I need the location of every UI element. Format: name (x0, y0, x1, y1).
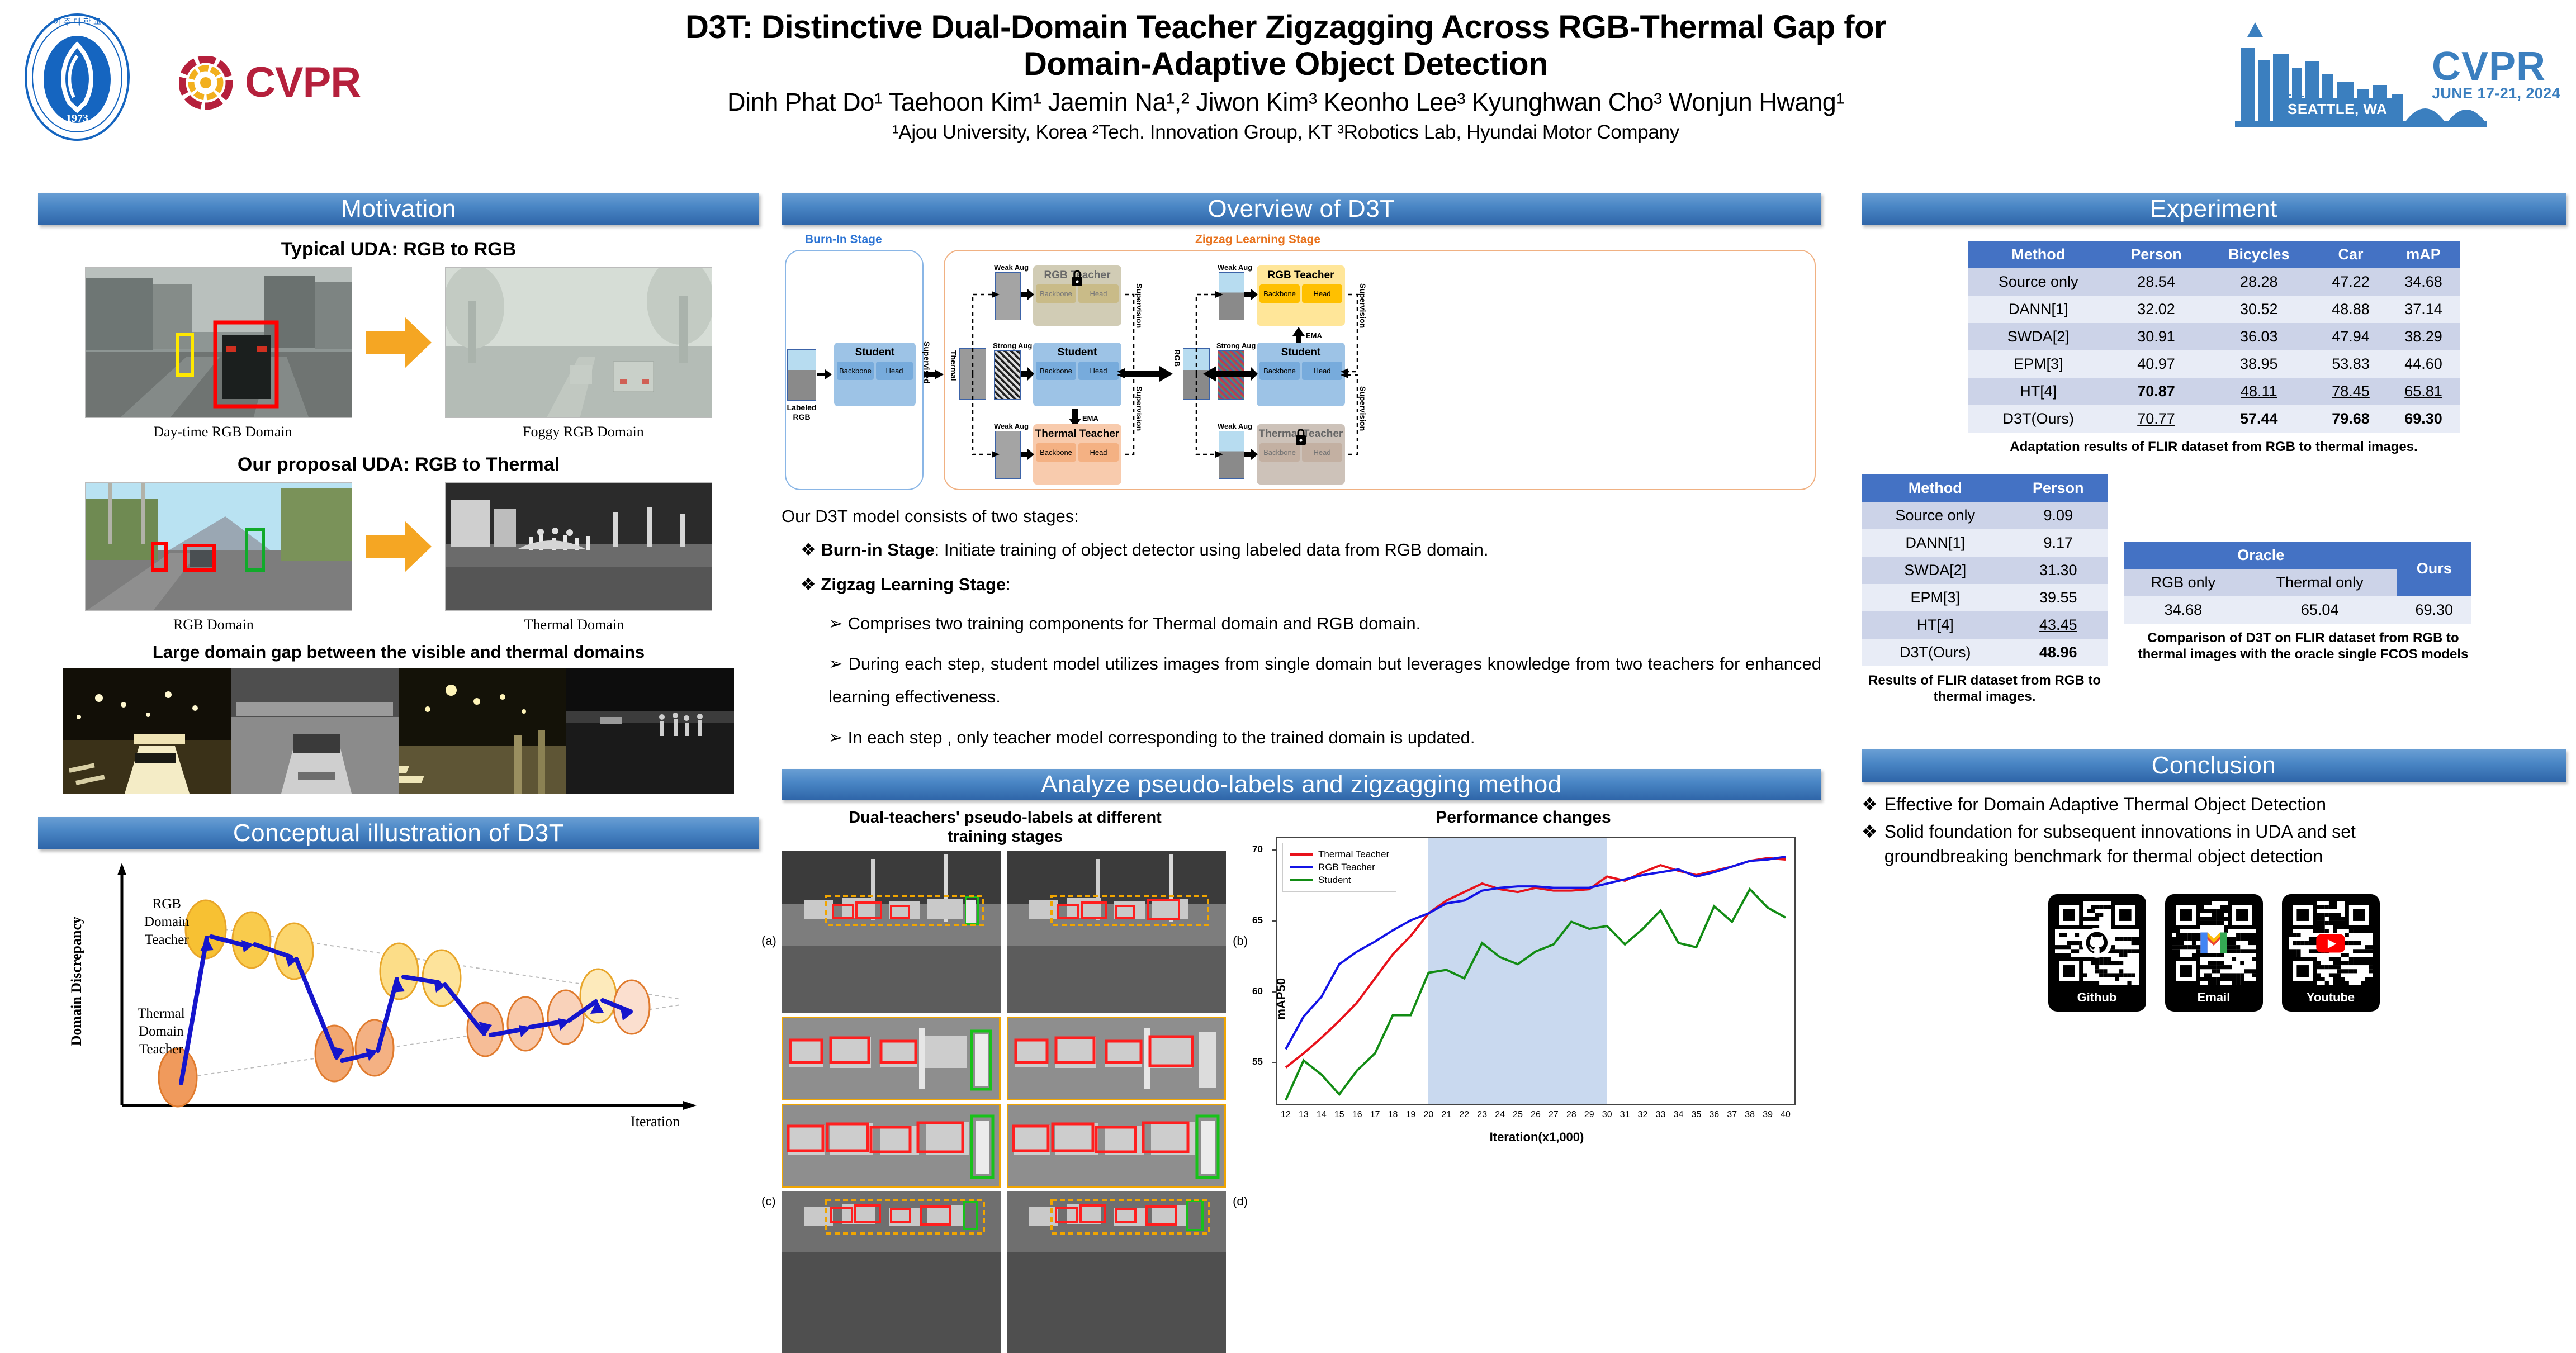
table-cell: 53.83 (2314, 350, 2387, 378)
labeled-rgb-label: Labeled RGB (783, 403, 821, 422)
thermal-vertical-label: Thermal (949, 350, 958, 381)
cvpr-mark-icon (179, 56, 233, 110)
table-cell: 34.68 (2124, 596, 2242, 624)
arrow-icon (817, 369, 832, 379)
conclusion-item-1: ❖ Effective for Domain Adaptive Thermal … (1862, 792, 2566, 816)
table-oracle-comparison: OracleOursRGB onlyThermal only34.6865.04… (2124, 542, 2471, 624)
proposal-uda-captions: RGB Domain Thermal Domain (38, 616, 759, 633)
legend-label: Thermal Teacher (1318, 849, 1389, 860)
chart-x-tick: 21 (1441, 1110, 1451, 1120)
table-cell: D3T(Ours) (1968, 405, 2109, 433)
youtube-qr-code[interactable] (2289, 901, 2373, 985)
table-cell: DANN[1] (1968, 296, 2109, 323)
weak-aug-label-2: Weak Aug (994, 422, 1029, 430)
pseudo-label-grid: (a) (b) (c) (d) (782, 851, 1229, 1353)
table-row: HT[4]43.45 (1862, 611, 2108, 639)
overview-sub-bullet-3: ➢ In each step , only teacher model corr… (828, 721, 1821, 754)
section-header-conclusion: Conclusion (1862, 749, 2566, 782)
cvpr-seattle-title: CVPR (2432, 48, 2560, 85)
chart-y-tick: 65 (1252, 915, 1263, 926)
qr-label: Github (2055, 985, 2139, 1012)
chart-x-axis-label: Iteration(x1,000) (1277, 1130, 1797, 1145)
pseudo-zoom-a (782, 1017, 1001, 1100)
github-icon (2082, 928, 2111, 957)
arrow-bullet-icon-1: ➢ (828, 614, 843, 633)
table-cell: EPM[3] (1862, 584, 2009, 611)
table-cell: 78.45 (2314, 378, 2387, 405)
strong-aug-label-1: Strong Aug (993, 341, 1032, 350)
legend-label: RGB Teacher (1318, 862, 1375, 873)
table-person-results: MethodPersonSource only9.09DANN[1]9.17SW… (1862, 474, 2108, 666)
thermal-domain-photo (445, 482, 712, 611)
table-row: DANN[1]9.17 (1862, 529, 2108, 557)
chart-y-tick: 70 (1252, 844, 1263, 855)
table-cell: 47.22 (2314, 268, 2387, 296)
strong-aug-rgb-thumb (1218, 350, 1244, 400)
email-qr-code[interactable] (2172, 901, 2256, 985)
table-cell: 79.68 (2314, 405, 2387, 433)
chart-x-tick: 36 (1709, 1110, 1719, 1120)
burn-in-bold: Burn-in Stage (821, 540, 934, 559)
overview-sub-bullet-1: ➢ Comprises two training components for … (828, 607, 1821, 640)
night-rgb-photo-2 (399, 668, 566, 794)
arrow-bullet-icon-2: ➢ (828, 654, 843, 673)
svg-text:아 주 대 학 교: 아 주 대 학 교 (53, 17, 101, 27)
chart-x-tick: 35 (1691, 1110, 1701, 1120)
chart-x-tick: 17 (1370, 1110, 1380, 1120)
overview-lead: Our D3T model consists of two stages: (782, 505, 1821, 528)
chart-x-tick: 34 (1674, 1110, 1684, 1120)
chart-x-tick: 25 (1513, 1110, 1523, 1120)
conclusion-item-1-text: Effective for Domain Adaptive Thermal Ob… (1884, 792, 2326, 816)
qr-code-row: GithubEmailYoutube (1862, 894, 2566, 1012)
zigzag-stage-label: Zigzag Learning Stage (1195, 233, 1320, 246)
motivation-subtitle-proposal: Our proposal UDA: RGB to Thermal (38, 454, 759, 476)
chart-x-tick: 29 (1584, 1110, 1594, 1120)
table-cell: 30.52 (2204, 296, 2315, 323)
gmail-icon (2200, 932, 2227, 953)
table-cell: Thermal only (2242, 569, 2398, 596)
thermal-source-thumbnail (959, 348, 986, 400)
table-cell: D3T(Ours) (1862, 639, 2009, 666)
architecture-diagram: Burn-In Stage Zigzag Learning Stage Labe… (782, 232, 1821, 495)
overview-bullet-burn-in: ❖ Burn-in Stage: Initiate training of ob… (801, 538, 1821, 562)
table-cell: 48.11 (2204, 378, 2315, 405)
conceptual-label-thermal-teacher: Thermal Domain Teacher (138, 1005, 185, 1058)
domain-gap-image-strip (38, 668, 759, 794)
chart-x-tick: 14 (1317, 1110, 1327, 1120)
table-cell: HT[4] (1968, 378, 2109, 405)
qr-label: Email (2172, 985, 2256, 1012)
ajou-year-text: 1973 (66, 112, 88, 125)
table-row: Source only9.09 (1862, 502, 2108, 529)
chart-x-tick: 31 (1620, 1110, 1630, 1120)
table-header-cell: Car (2314, 241, 2387, 268)
table-cell: 28.28 (2204, 268, 2315, 296)
chart-x-tick: 19 (1406, 1110, 1416, 1120)
chart-y-axis-label: mAP50 (1274, 978, 1289, 1020)
chart-x-tick: 16 (1352, 1110, 1362, 1120)
rgb-student-node: Student Backbone Head (1257, 343, 1345, 406)
cvpr-seattle-wordmark: CVPR JUNE 17-21, 2024 (2432, 48, 2560, 102)
cvpr-red-logo: CVPR (179, 53, 430, 112)
table-header-cell: Person (2009, 474, 2108, 502)
lock-icon (1070, 269, 1085, 287)
series-student (1286, 889, 1786, 1100)
strong-aug-label-2: Strong Aug (1216, 341, 1256, 350)
chart-y-tickmark (1272, 849, 1277, 851)
proposal-uda-image-pair (38, 482, 759, 611)
weak-aug-thermal-thumb-2 (995, 431, 1021, 479)
conclusion-list: ❖ Effective for Domain Adaptive Thermal … (1862, 792, 2566, 868)
table-cell: Source only (1968, 268, 2109, 296)
weak-aug-rgb-thumb-2 (1219, 431, 1244, 479)
chart-x-tick: 18 (1388, 1110, 1398, 1120)
pseudo-image-c (782, 1191, 1001, 1353)
table-row: DANN[1]32.0230.5248.8837.14 (1968, 296, 2460, 323)
legend-swatch (1290, 853, 1313, 856)
seattle-city-tag: SEATTLE, WA (2280, 98, 2395, 121)
github-qr-code[interactable] (2055, 901, 2139, 985)
table2-caption: Results of FLIR dataset from RGB to ther… (1862, 673, 2108, 705)
overview-sub-bullet-2: ➢ During each step, student model utiliz… (828, 648, 1821, 714)
table-cell: 65.81 (2387, 378, 2460, 405)
domain-gap-caption: Large domain gap between the visible and… (38, 642, 759, 662)
chart-x-tick: 15 (1334, 1110, 1344, 1120)
table-cell: 70.87 (2109, 378, 2203, 405)
poster-title-line2: Domain-Adaptive Object Detection (458, 46, 2113, 83)
table-cell: 48.88 (2314, 296, 2387, 323)
chart-y-tickmark (1272, 920, 1277, 922)
cvpr-seattle-dates: JUNE 17-21, 2024 (2432, 85, 2560, 102)
weak-aug-label-1: Weak Aug (994, 263, 1029, 272)
chart-y-tickmark (1272, 991, 1277, 993)
poster-affiliations: ¹Ajou University, Korea ²Tech. Innovatio… (458, 121, 2113, 144)
table-cell: 65.04 (2242, 596, 2398, 624)
foggy-rgb-photo (445, 267, 712, 418)
analyze-body: Dual-teachers' pseudo-labels at differen… (782, 808, 1821, 1352)
caption-rgb-domain: RGB Domain (173, 616, 254, 633)
table-cell: 69.30 (2397, 596, 2471, 624)
table-cell: 32.02 (2109, 296, 2203, 323)
qr-card-email[interactable]: Email (2165, 894, 2263, 1012)
daytime-rgb-photo (85, 267, 352, 418)
supervision-label-1: Supervision (1135, 283, 1144, 328)
chart-x-tick: 20 (1424, 1110, 1434, 1120)
weak-aug-thermal-thumb-1 (995, 272, 1021, 320)
pseudo-zoom-b (1007, 1017, 1226, 1100)
table3-block: OracleOursRGB onlyThermal only34.6865.04… (2124, 474, 2482, 663)
ajou-university-logo: 1973 아 주 대 학 교 (21, 12, 133, 142)
sub-bullet-3-text: In each step , only teacher model corres… (848, 728, 1475, 747)
table-cell: 48.96 (2009, 639, 2108, 666)
qr-card-github[interactable]: Github (2048, 894, 2146, 1012)
arrow-bullet-icon-3: ➢ (828, 728, 843, 747)
table2-block: MethodPersonSource only9.09DANN[1]9.17SW… (1862, 474, 2108, 705)
chart-x-tick: 22 (1459, 1110, 1469, 1120)
legend-label: Student (1318, 875, 1351, 886)
table-cell: 38.95 (2204, 350, 2315, 378)
arrow-right-icon-2 (366, 521, 432, 572)
table-header-cell: mAP (2387, 241, 2460, 268)
table-cell: 44.60 (2387, 350, 2460, 378)
weak-aug-label-4: Weak Aug (1218, 422, 1252, 430)
zigzag-bold: Zigzag Learning Stage (821, 575, 1006, 594)
chart-x-tick: 37 (1727, 1110, 1737, 1120)
lower-tables-row: MethodPersonSource only9.09DANN[1]9.17SW… (1862, 474, 2566, 705)
poster-header: 1973 아 주 대 학 교 CVPR D3T: Distinctive Dua… (0, 0, 2576, 184)
strong-aug-thermal-thumb (994, 350, 1021, 400)
table-row: SWDA[2]31.30 (1862, 557, 2108, 584)
left-column: Motivation Typical UDA: RGB to RGB (38, 193, 759, 1140)
conceptual-y-axis-label: Domain Discrepancy (68, 917, 102, 1048)
table-header-row: OracleOurs (2124, 542, 2471, 569)
diamond-bullet-icon-4: ❖ (1862, 819, 1878, 868)
typical-uda-image-pair (38, 267, 759, 418)
chart-x-tick: 24 (1495, 1110, 1505, 1120)
table-header-cell: Bicycles (2204, 241, 2315, 268)
table-cell: 9.09 (2009, 502, 2108, 529)
table-cell: 9.17 (2009, 529, 2108, 557)
middle-column: Overview of D3T Burn-In Stage Zigzag Lea… (782, 193, 1821, 1353)
chart-x-tick: 38 (1745, 1110, 1755, 1120)
caption-foggy-rgb: Foggy RGB Domain (523, 424, 644, 440)
diamond-bullet-icon-2: ❖ (801, 575, 816, 594)
labeled-rgb-thumbnail (787, 349, 816, 401)
table-row: D3T(Ours)48.96 (1862, 639, 2108, 666)
supervision-label-4: Supervision (1358, 386, 1367, 431)
conceptual-x-axis-label: Iteration (631, 1113, 680, 1130)
section-header-analyze: Analyze pseudo-labels and zigzagging met… (782, 769, 1821, 800)
cvpr-wordmark: CVPR (245, 58, 361, 107)
chart-x-tick: 32 (1638, 1110, 1648, 1120)
conclusion-item-2-line1: Solid foundation for subsequent innovati… (1884, 822, 2356, 842)
chart-y-tick: 60 (1252, 986, 1263, 997)
burn-in-rest: : Initiate training of object detector u… (935, 540, 1489, 559)
legend-swatch (1290, 866, 1313, 868)
table-header-cell: Person (2109, 241, 2203, 268)
chart-y-tick: 55 (1252, 1056, 1263, 1067)
typical-uda-captions: Day-time RGB Domain Foggy RGB Domain (38, 424, 759, 440)
section-header-conceptual: Conceptual illustration of D3T (38, 817, 759, 849)
table-cell: 47.94 (2314, 323, 2387, 350)
supervision-label-3: Supervision (1358, 283, 1367, 328)
chart-x-tick: 28 (1566, 1110, 1576, 1120)
caption-daytime-rgb: Day-time RGB Domain (153, 424, 292, 440)
table-cell: Source only (1862, 502, 2009, 529)
chart-x-tick: 23 (1477, 1110, 1487, 1120)
legend-entry: Student (1290, 875, 1389, 886)
poster-authors: Dinh Phat Do¹ Taehoon Kim¹ Jaemin Na¹,² … (458, 88, 2113, 117)
qr-label: Youtube (2289, 985, 2373, 1012)
chart-plot-area: Thermal TeacherRGB TeacherStudent mAP50 … (1276, 837, 1796, 1105)
table-cell: 31.30 (2009, 557, 2108, 584)
table-cell: 37.14 (2387, 296, 2460, 323)
qr-card-youtube[interactable]: Youtube (2282, 894, 2380, 1012)
table-header-ours: Ours (2397, 542, 2471, 596)
supervision-label-2: Supervision (1135, 386, 1144, 431)
right-column: Experiment MethodPersonBicyclesCarmAPSou… (1862, 193, 2566, 1012)
thermal-teacher-node-active: Thermal Teacher Backbone Head (1033, 424, 1121, 485)
rgb-teacher-node-active: RGB Teacher Backbone Head (1257, 265, 1345, 326)
pseudo-zoom-c (782, 1104, 1001, 1188)
pseudo-labels-caption: Dual-teachers' pseudo-labels at differen… (782, 808, 1229, 846)
table-cell: 28.54 (2109, 268, 2203, 296)
overview-bullets: Our D3T model consists of two stages: ❖ … (782, 505, 1821, 754)
pseudo-image-b (1007, 851, 1226, 1013)
table1-caption: Adaptation results of FLIR dataset from … (1968, 439, 2460, 455)
pseudo-zoom-d (1007, 1104, 1226, 1188)
table-cell: 34.68 (2387, 268, 2460, 296)
table-cell: EPM[3] (1968, 350, 2109, 378)
night-thermal-photo-2 (566, 668, 734, 794)
pseudo-image-d (1007, 1191, 1226, 1353)
sub-bullet-1-text: Comprises two training components for Th… (848, 614, 1421, 633)
table-row: EPM[3]39.55 (1862, 584, 2108, 611)
legend-entry: RGB Teacher (1290, 862, 1389, 873)
table-row: HT[4]70.8748.1178.4565.81 (1968, 378, 2460, 405)
conclusion-item-2-line2: groundbreaking benchmark for thermal obj… (1884, 846, 2323, 866)
rgb-source-thumbnail (1183, 348, 1210, 400)
night-thermal-photo-1 (231, 668, 399, 794)
ema-label-rgb: EMA (1306, 331, 1322, 340)
caption-thermal-domain: Thermal Domain (524, 616, 624, 633)
chart-x-tick: 12 (1281, 1110, 1291, 1120)
section-header-experiment: Experiment (1862, 193, 2566, 225)
legend-entry: Thermal Teacher (1290, 849, 1389, 860)
table-header-row: MethodPersonBicyclesCarmAP (1968, 241, 2460, 268)
chart-x-tick: 27 (1549, 1110, 1559, 1120)
lock-icon-2 (1294, 428, 1308, 445)
night-rgb-photo-1 (63, 668, 231, 794)
chart-x-tick: 40 (1781, 1110, 1791, 1120)
chart-x-tick: 39 (1763, 1110, 1773, 1120)
chart-title: Performance changes (1241, 808, 1806, 827)
arrow-icon-2 (924, 369, 944, 379)
table-cell: 57.44 (2204, 405, 2315, 433)
conceptual-illustration-chart: Domain Discrepancy Iteration RGB Domain … (38, 855, 759, 1140)
arrow-right-icon (366, 317, 432, 368)
title-block: D3T: Distinctive Dual-Domain Teacher Zig… (458, 9, 2113, 144)
overview-bullet-zigzag: ❖ Zigzag Learning Stage: (801, 573, 1821, 596)
chart-x-tick: 30 (1602, 1110, 1612, 1120)
table-header-cell: Method (1968, 241, 2109, 268)
table3-caption: Comparison of D3T on FLIR dataset from R… (2124, 630, 2482, 663)
table-cell: SWDA[2] (1862, 557, 2009, 584)
burn-in-stage-label: Burn-In Stage (805, 233, 882, 246)
table-cell: 38.29 (2387, 323, 2460, 350)
chart-x-tick: 26 (1531, 1110, 1541, 1120)
youtube-icon (2316, 934, 2345, 952)
pseudo-labels-panel: Dual-teachers' pseudo-labels at differen… (782, 808, 1229, 1352)
section-header-motivation: Motivation (38, 193, 759, 225)
performance-chart: Performance changes Thermal TeacherRGB T… (1241, 808, 1806, 1352)
motivation-subtitle-typical: Typical UDA: RGB to RGB (38, 239, 759, 260)
conceptual-label-rgb-teacher: RGB Domain Teacher (144, 895, 190, 949)
panel-label-c: (c) (761, 1194, 776, 1209)
table-cell: 70.77 (2109, 405, 2203, 433)
rgb-domain-photo (85, 482, 352, 611)
table-header-oracle: Oracle (2124, 542, 2397, 569)
table-row: EPM[3]40.9738.9553.8344.60 (1968, 350, 2460, 378)
table-header-cell: Method (1862, 474, 2009, 502)
table-cell: RGB only (2124, 569, 2242, 596)
table-adaptation-results: MethodPersonBicyclesCarmAPSource only28.… (1968, 241, 2460, 433)
table-cell: 30.91 (2109, 323, 2203, 350)
table-cell: SWDA[2] (1968, 323, 2109, 350)
table-cell: DANN[1] (1862, 529, 2009, 557)
chart-x-tick: 33 (1656, 1110, 1666, 1120)
sub-bullet-2-text: During each step, student model utilizes… (828, 654, 1821, 706)
pseudo-image-a (782, 851, 1001, 1013)
table-cell: 39.55 (2009, 584, 2108, 611)
weak-aug-rgb-thumb-1 (1219, 272, 1244, 320)
table-cell: 43.45 (2009, 611, 2108, 639)
poster-title-line1: D3T: Distinctive Dual-Domain Teacher Zig… (458, 9, 2113, 46)
table-cell: 69.30 (2387, 405, 2460, 433)
diamond-bullet-icon-3: ❖ (1862, 792, 1878, 816)
panel-label-a: (a) (761, 934, 776, 948)
weak-aug-label-3: Weak Aug (1218, 263, 1252, 272)
section-header-overview: Overview of D3T (782, 193, 1821, 225)
rgb-vertical-label: RGB (1173, 349, 1182, 367)
table-row: Source only28.5428.2847.2234.68 (1968, 268, 2460, 296)
table-row: SWDA[2]30.9136.0347.9438.29 (1968, 323, 2460, 350)
table-row: 34.6865.0469.30 (2124, 596, 2471, 624)
ema-label-thermal: EMA (1082, 414, 1098, 422)
table-cell: 40.97 (2109, 350, 2203, 378)
zigzag-rest: : (1006, 575, 1011, 594)
diamond-bullet-icon: ❖ (801, 540, 816, 559)
conclusion-item-2: ❖ Solid foundation for subsequent innova… (1862, 819, 2566, 868)
burn-in-student-node: Student Backbone Head (834, 343, 916, 406)
table-row: D3T(Ours)70.7757.4479.6869.30 (1968, 405, 2460, 433)
legend-swatch (1290, 879, 1313, 881)
chart-legend: Thermal TeacherRGB TeacherStudent (1282, 843, 1396, 892)
table-cell: HT[4] (1862, 611, 2009, 639)
table-header-row: MethodPerson (1862, 474, 2108, 502)
table-cell: 36.03 (2204, 323, 2315, 350)
chart-x-tick: 13 (1299, 1110, 1309, 1120)
chart-y-tickmark (1272, 1062, 1277, 1063)
thermal-student-node: Student Backbone Head (1033, 343, 1121, 406)
